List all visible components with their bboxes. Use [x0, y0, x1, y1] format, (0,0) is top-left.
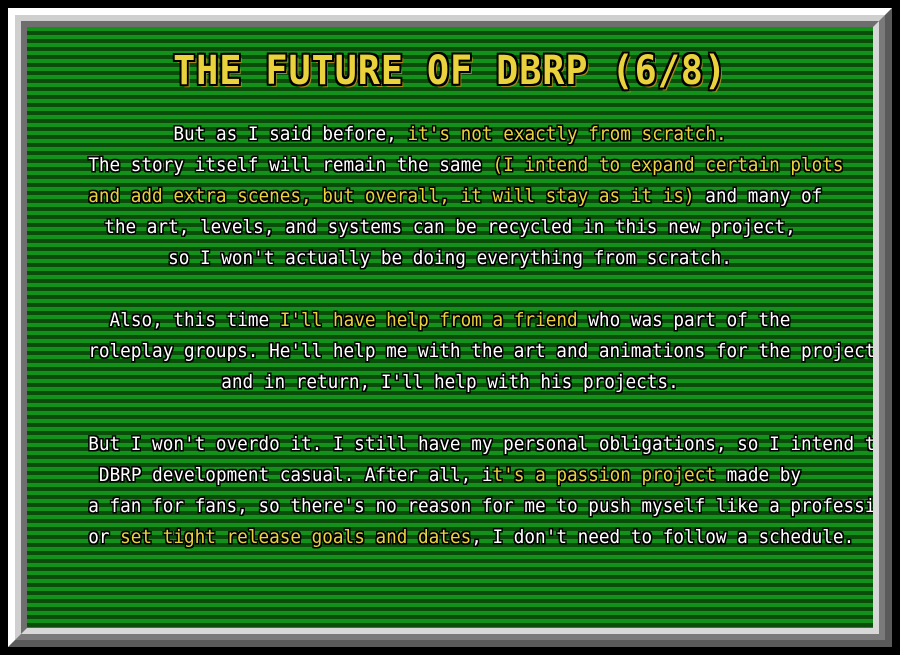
text-run: so I won't actually be doing everything … [168, 247, 732, 269]
text-line: or set tight release goals and dates, I … [88, 522, 812, 553]
slide-body-text: But as I said before, it's not exactly f… [27, 93, 873, 553]
text-run: , I don't need to follow a schedule. [471, 526, 854, 548]
slide-content: THE FUTURE OF DBRP (6/8) But as I said b… [27, 27, 873, 628]
text-run: roleplay groups. He'll help me with the … [88, 340, 873, 362]
text-run: the art, levels, and systems can be recy… [104, 216, 795, 238]
text-run: Also, this time [110, 309, 280, 331]
highlighted-text-run: set tight release goals and dates [120, 526, 471, 548]
text-run: But I won't overdo it. I still have my p… [88, 433, 873, 455]
frame-bevel-outer: THE FUTURE OF DBRP (6/8) But as I said b… [8, 8, 892, 647]
text-run: made by [716, 464, 801, 486]
striped-green-screen: THE FUTURE OF DBRP (6/8) But as I said b… [27, 27, 873, 628]
text-line: a fan for fans, so there's no reason for… [88, 491, 812, 522]
page-title: THE FUTURE OF DBRP (6/8) [61, 27, 839, 93]
text-line: so I won't actually be doing everything … [88, 243, 812, 274]
paragraph-1: But as I said before, it's not exactly f… [61, 119, 839, 274]
text-line: and add extra scenes, but overall, it wi… [88, 181, 812, 212]
highlighted-text-run: it's not exactly from scratch. [407, 123, 726, 145]
frame-bevel-middle: THE FUTURE OF DBRP (6/8) But as I said b… [15, 15, 885, 640]
highlighted-text-run: and add extra scenes, but overall, it wi… [88, 185, 694, 207]
text-run: who was part of the [578, 309, 791, 331]
text-run: and many of [695, 185, 823, 207]
text-run: But as I said before, [173, 123, 407, 145]
text-line: But as I said before, it's not exactly f… [88, 119, 812, 150]
highlighted-text-run: t's a passion project [493, 464, 716, 486]
text-line: the art, levels, and systems can be recy… [88, 212, 812, 243]
text-line: Also, this time I'll have help from a fr… [88, 305, 812, 336]
slide-frame: THE FUTURE OF DBRP (6/8) But as I said b… [0, 0, 900, 655]
text-run: or [88, 526, 120, 548]
paragraph-3: But I won't overdo it. I still have my p… [61, 429, 839, 553]
text-line: roleplay groups. He'll help me with the … [88, 336, 812, 367]
frame-bevel-inner: THE FUTURE OF DBRP (6/8) But as I said b… [21, 21, 879, 634]
text-line: DBRP development casual. After all, it's… [88, 460, 812, 491]
highlighted-text-run: I'll have help from a friend [280, 309, 578, 331]
paragraph-2: Also, this time I'll have help from a fr… [61, 305, 839, 398]
text-run: a fan for fans, so there's no reason for… [88, 495, 873, 517]
text-line: But I won't overdo it. I still have my p… [88, 429, 812, 460]
text-run: The story itself will remain the same [88, 154, 492, 176]
text-run: and in return, I'll help with his projec… [221, 371, 678, 393]
text-line: The story itself will remain the same (I… [88, 150, 812, 181]
text-line: and in return, I'll help with his projec… [88, 367, 812, 398]
highlighted-text-run: (I intend to expand certain plots [492, 154, 843, 176]
text-run: DBRP development casual. After all, i [99, 464, 493, 486]
